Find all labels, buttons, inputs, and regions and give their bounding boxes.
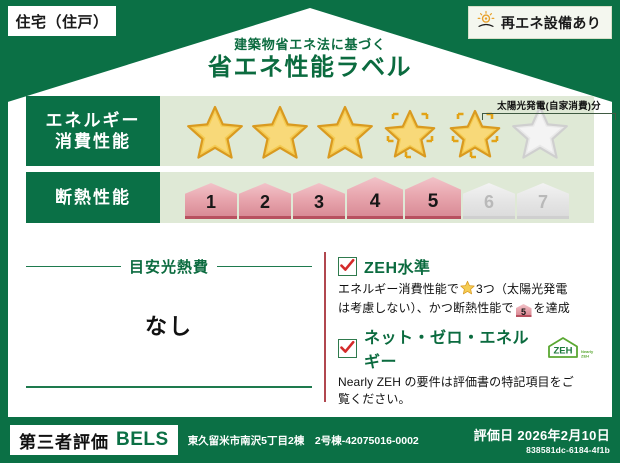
insulation-grade-4: 4 (347, 177, 403, 219)
insulation-grade-7: 7 (517, 183, 569, 219)
net-zero-body-line2: 覧ください。 (338, 392, 411, 406)
zeh-body-text-1: エネルギー消費性能で (338, 282, 459, 296)
renewable-badge-label: 再エネ設備あり (501, 13, 601, 33)
performance-panel: エネルギー 消費性能 (26, 96, 594, 229)
net-zero-title: ネット・ゼロ・エネルギー (364, 324, 535, 372)
property-address: 東久留米市南沢5丁目2棟 2号棟-42075016-0002 (188, 433, 419, 448)
utility-cost-section: 目安光熱費 なし (26, 252, 312, 402)
net-zero-energy-block: ネット・ゼロ・エネルギー ZEH Nearly ZEH Nearly ZEH の… (338, 324, 594, 408)
svg-text:ZEH: ZEH (581, 354, 589, 359)
insulation-grade-5: 5 (405, 177, 461, 219)
zeh-house-logo: ZEH Nearly ZEH (546, 336, 594, 360)
insulation-performance-value: 1 2 3 4 5 6 7 (160, 172, 594, 223)
evaluation-info: 評価日 2026年2月10日 838581dc-6184-4f1b (474, 425, 610, 455)
cost-rule-right (217, 266, 312, 268)
insulation-grade-1: 1 (185, 183, 237, 219)
solar-bracket-annotation: 太陽光発電(自家消費)分 (482, 98, 616, 120)
energy-key-line1: エネルギー (46, 110, 141, 131)
energy-performance-value: 太陽光発電(自家消費)分 (160, 96, 594, 166)
house-grade-icon: 5 (516, 304, 532, 317)
sun-icon (476, 10, 496, 35)
insulation-performance-key: 断熱性能 (26, 172, 160, 223)
zeh-standard-headline: ZEH水準 (338, 254, 594, 278)
zeh-standard-title: ZEH水準 (364, 254, 431, 278)
energy-performance-row: エネルギー 消費性能 (26, 96, 594, 166)
section-divider (324, 252, 326, 402)
insulation-grade-list: 1 2 3 4 5 6 7 (185, 172, 569, 223)
energy-performance-key: エネルギー 消費性能 (26, 96, 160, 166)
bels-certification-box: 第三者評価 BELS (10, 425, 178, 455)
star-4-solar (378, 100, 442, 164)
label-title-group: 建築物省エネ法に基づく 省エネ性能ラベル (0, 38, 620, 83)
cost-rule-left (26, 266, 121, 268)
bels-jp-label: 第三者評価 (19, 428, 109, 453)
insulation-grade-2: 2 (239, 183, 291, 219)
star-2 (248, 100, 312, 164)
renewable-energy-badge: 再エネ設備あり (468, 6, 612, 39)
insulation-key-label: 断熱性能 (55, 187, 131, 208)
utility-cost-title: 目安光熱費 (129, 256, 209, 277)
energy-performance-label: 住宅（住戸） 再エネ設備あり 建築物省エネ法に基づく 省エネ性能ラベル (0, 0, 620, 463)
utility-cost-header: 目安光熱費 (26, 252, 312, 277)
net-zero-headline: ネット・ゼロ・エネルギー ZEH Nearly ZEH (338, 324, 594, 372)
net-zero-checkbox[interactable] (338, 339, 357, 358)
net-zero-body: Nearly ZEH の要件は評価書の特記項目をご覧ください。 (338, 374, 594, 408)
zeh-body-text-2: 3つ（太陽光発電 (476, 282, 567, 296)
zeh-standard-body: エネルギー消費性能で3つ（太陽光発電は考慮しない）、かつ断熱性能で5を達成 (338, 280, 594, 317)
star-3 (313, 100, 377, 164)
zeh-body-text-4: を達成 (534, 301, 570, 315)
star-icon (460, 284, 475, 298)
evaluation-id: 838581dc-6184-4f1b (474, 445, 610, 455)
solar-bracket-label: 太陽光発電(自家消費)分 (482, 98, 616, 112)
title-main: 省エネ性能ラベル (0, 54, 620, 83)
energy-key-line2: 消費性能 (55, 131, 131, 152)
evaluation-date: 評価日 2026年2月10日 (474, 425, 610, 444)
net-zero-body-line1: Nearly ZEH の要件は評価書の特記項目をご (338, 375, 574, 389)
zeh-section: ZEH水準 エネルギー消費性能で3つ（太陽光発電は考慮しない）、かつ断熱性能で5… (338, 252, 594, 402)
insulation-grade-3: 3 (293, 183, 345, 219)
lower-section: 目安光熱費 なし ZEH水準 エネルギー消費性能で3つ（太陽光発電は考慮 (26, 252, 594, 402)
svg-text:ZEH: ZEH (554, 346, 573, 357)
insulation-performance-row: 断熱性能 1 2 3 4 5 6 7 (26, 172, 594, 223)
star-1 (183, 100, 247, 164)
solar-bracket-line (482, 113, 616, 120)
title-subtitle: 建築物省エネ法に基づく (0, 38, 620, 52)
cost-footer-rule (26, 386, 312, 388)
footer-bar: 第三者評価 BELS 東久留米市南沢5丁目2棟 2号棟-42075016-000… (0, 417, 620, 463)
utility-cost-value: なし (26, 309, 312, 341)
house-type-tag: 住宅（住戸） (8, 6, 116, 36)
insulation-grade-6: 6 (463, 183, 515, 219)
zeh-standard-block: ZEH水準 エネルギー消費性能で3つ（太陽光発電は考慮しない）、かつ断熱性能で5… (338, 254, 594, 317)
zeh-body-text-3: は考慮しない）、かつ断熱性能で (338, 301, 514, 315)
zeh-standard-checkbox[interactable] (338, 257, 357, 276)
bels-en-label: BELS (116, 429, 169, 451)
